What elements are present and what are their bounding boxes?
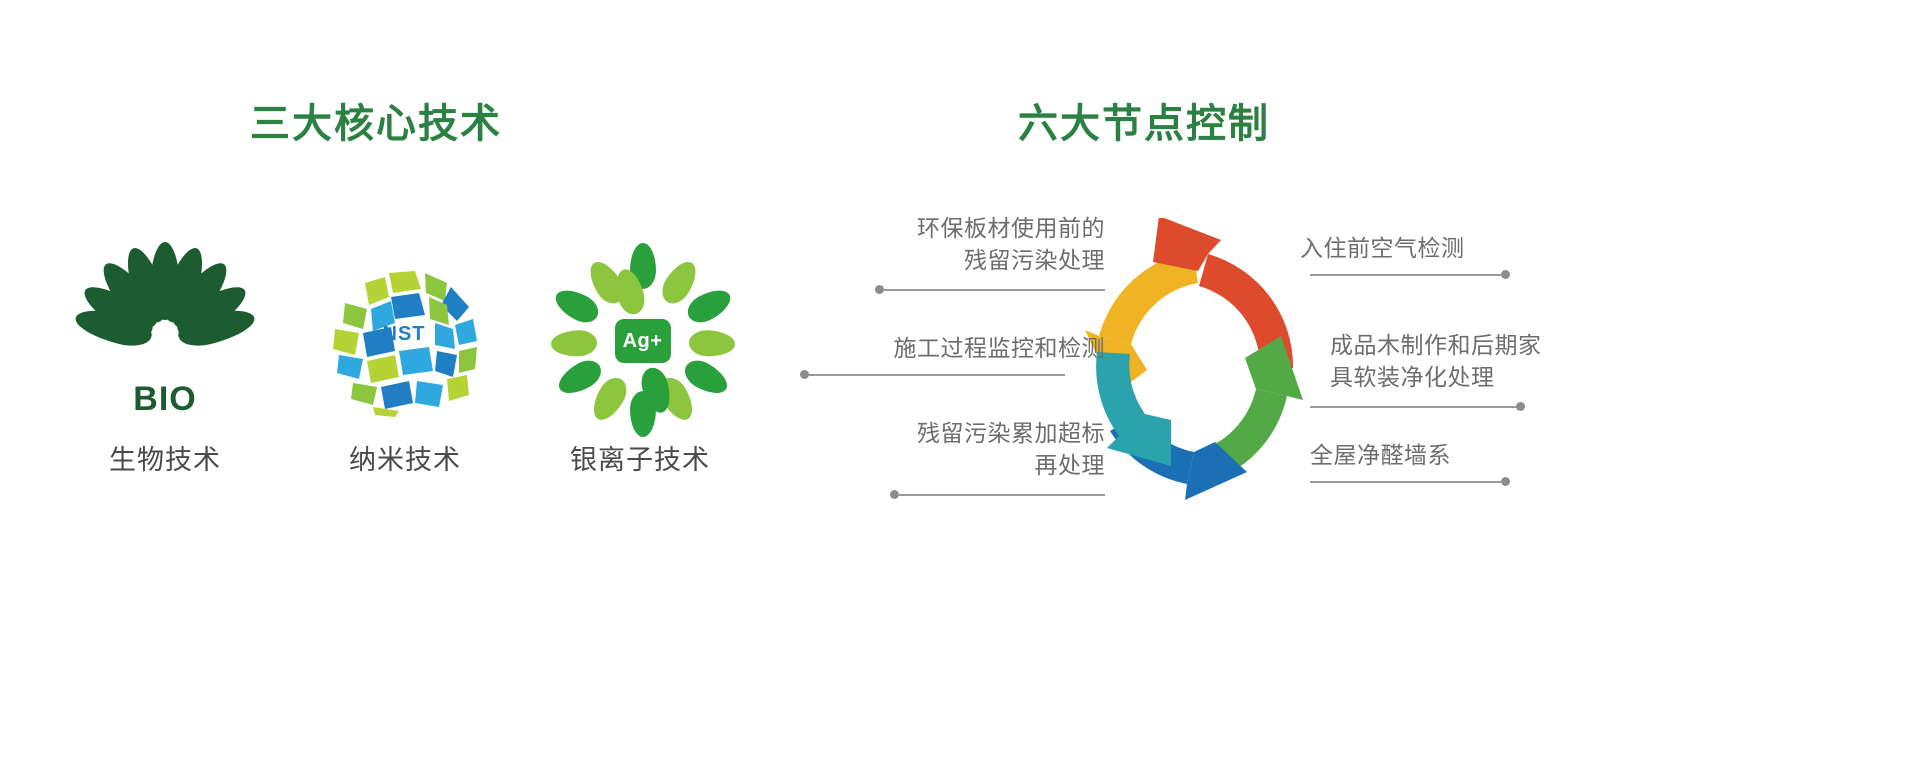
cycle-node-2-label: 残留污染累加超标 再处理	[840, 418, 1105, 481]
cycle-node-1-label: 施工过程监控和检测	[800, 333, 1105, 365]
cycle-node-1: 施工过程监控和检测	[800, 333, 1105, 365]
cycle-node-0: 环保板材使用前的 残留污染处理	[840, 213, 1105, 276]
cycle-node-3: 入住前空气检测	[1300, 233, 1590, 265]
infographic-canvas: 三大核心技术 BIO 生物技术	[0, 0, 1920, 784]
cycle-node-4-leader	[1310, 402, 1525, 412]
left-section-title: 三大核心技术	[250, 104, 502, 144]
cycle-node-0-label: 环保板材使用前的 残留污染处理	[840, 213, 1105, 276]
right-section-title: 六大节点控制	[1018, 104, 1270, 144]
technology-label-nano: 纳米技术	[295, 438, 515, 477]
cycle-ring-svg	[1075, 218, 1315, 518]
cycle-node-5: 全屋净醛墙系	[1310, 440, 1600, 472]
silver-ion-badge-text: Ag+	[615, 319, 671, 363]
technology-label-bio: 生物技术	[55, 438, 275, 477]
cycle-node-4-label: 成品木制作和后期家 具软装净化处理	[1330, 330, 1620, 393]
cycle-node-3-leader	[1310, 270, 1510, 280]
six-node-cycle-ring	[1075, 218, 1315, 518]
cycle-node-4: 成品木制作和后期家 具软装净化处理	[1330, 330, 1620, 393]
technology-label-silver-ion: 银离子技术	[530, 438, 750, 477]
cycle-node-2-leader	[890, 490, 1105, 500]
bio-logo: BIO	[75, 265, 255, 420]
nst-logo: NST	[315, 265, 495, 420]
bio-logo-text: BIO	[75, 380, 255, 419]
cycle-node-0-leader	[875, 285, 1105, 295]
nst-mosaic-sphere-icon: NST	[329, 267, 479, 417]
cycle-node-3-label: 入住前空气检测	[1300, 233, 1590, 265]
technology-card-silver-ion: Ag+ 银离子技术	[530, 265, 750, 477]
technology-card-bio: BIO 生物技术	[55, 265, 275, 477]
technology-card-nano: NST 纳米技术	[295, 265, 515, 477]
bio-leaf-fan-icon: BIO	[75, 265, 255, 415]
cycle-node-5-label: 全屋净醛墙系	[1310, 440, 1600, 472]
silver-ion-leaf-icon: Ag+	[560, 265, 725, 417]
cycle-node-2: 残留污染累加超标 再处理	[840, 418, 1105, 481]
core-technologies-row: BIO 生物技术	[30, 265, 730, 495]
nst-logo-text: NST	[329, 323, 479, 346]
silver-ion-logo: Ag+	[550, 265, 730, 420]
cycle-node-5-leader	[1310, 477, 1510, 487]
cycle-node-1-leader	[800, 370, 1065, 380]
